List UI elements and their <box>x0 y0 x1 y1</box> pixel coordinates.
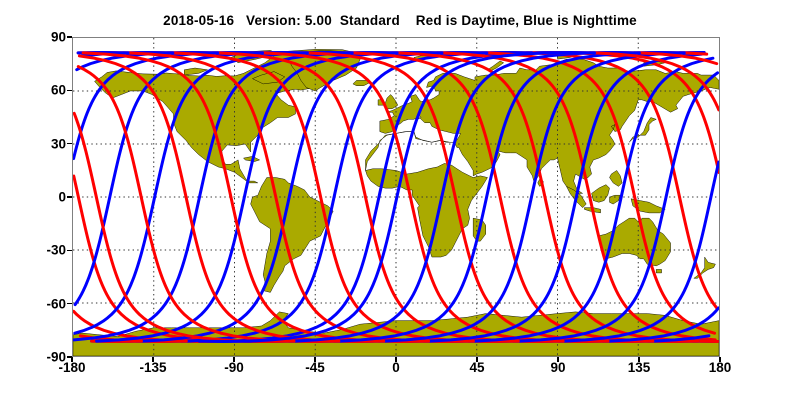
y-axis-tick-mark <box>67 90 72 92</box>
y-axis-tick-label: 90 <box>6 30 66 45</box>
y-axis-tick-label: 0 <box>6 190 66 205</box>
y-axis-tick-mark <box>67 36 72 38</box>
y-axis-tick-mark <box>67 303 72 305</box>
y-axis-tick-label: -60 <box>6 296 66 311</box>
x-axis-tick-label: -135 <box>113 360 193 375</box>
x-axis-tick-label: 0 <box>356 360 436 375</box>
x-axis-tick-label: 180 <box>680 360 760 375</box>
x-axis-tick-mark <box>395 357 397 362</box>
y-axis-tick-label: 30 <box>6 136 66 151</box>
y-axis-tick-mark <box>67 196 72 198</box>
x-axis-tick-mark <box>476 357 478 362</box>
x-axis-tick-label: 135 <box>599 360 679 375</box>
ground-track-figure: 2018-05-16 Version: 5.00 Standard Red is… <box>0 0 800 400</box>
x-axis-tick-label: -180 <box>32 360 112 375</box>
x-axis-tick-mark <box>314 357 316 362</box>
x-axis-tick-mark <box>557 357 559 362</box>
x-axis-tick-label: -90 <box>194 360 274 375</box>
world-map-svg <box>73 38 719 356</box>
y-axis-tick-mark <box>67 143 72 145</box>
x-axis-tick-mark <box>71 357 73 362</box>
x-axis-tick-label: 45 <box>437 360 517 375</box>
map-plot-area <box>72 37 720 357</box>
y-axis-tick-mark <box>67 250 72 252</box>
x-axis-tick-label: 90 <box>518 360 598 375</box>
x-axis-tick-mark <box>719 357 721 362</box>
y-axis-tick-label: 60 <box>6 83 66 98</box>
y-axis-tick-label: -30 <box>6 243 66 258</box>
x-axis-tick-mark <box>152 357 154 362</box>
figure-title: 2018-05-16 Version: 5.00 Standard Red is… <box>0 13 800 28</box>
x-axis-tick-label: -45 <box>275 360 355 375</box>
x-axis-tick-mark <box>638 357 640 362</box>
land-polygon <box>656 269 661 272</box>
x-axis-tick-mark <box>233 357 235 362</box>
